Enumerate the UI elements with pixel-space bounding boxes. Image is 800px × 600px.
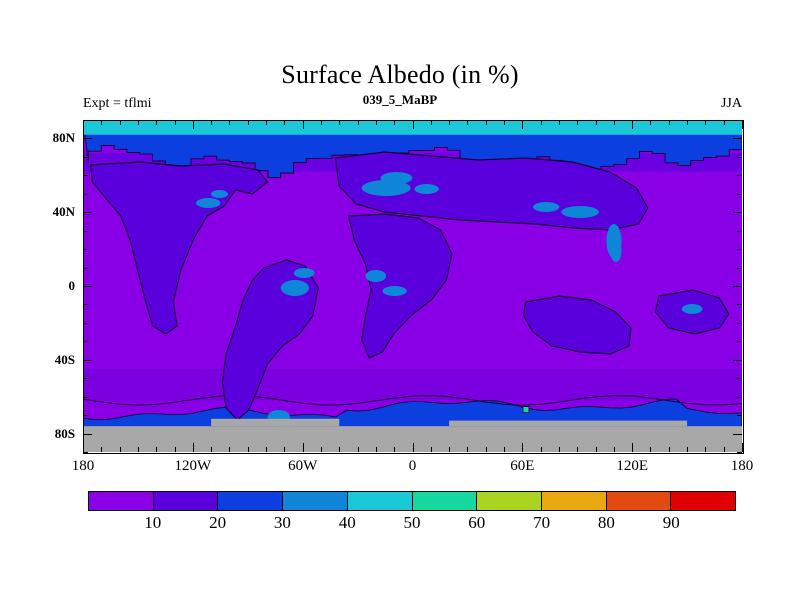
- y-tick-right: [737, 452, 742, 453]
- y-tick-right: [737, 304, 742, 305]
- colorbar-tick-label: 50: [404, 513, 421, 533]
- y-tick-right: [733, 212, 742, 213]
- y-tick: [83, 194, 88, 195]
- y-tick-right: [733, 286, 742, 287]
- x-tick: [284, 447, 285, 452]
- bright-surface-patch: [196, 198, 220, 208]
- bright-patch-group: [380, 172, 412, 184]
- albedo-heatmap: [83, 120, 742, 452]
- x-tick: [358, 447, 359, 452]
- y-tick-right: [737, 194, 742, 195]
- x-tick-top: [742, 120, 743, 129]
- colorbar-tick-label: 80: [598, 513, 615, 533]
- colorbar-swatch[interactable]: [541, 492, 606, 510]
- y-tick-right: [737, 157, 742, 158]
- x-tick-top: [687, 120, 688, 125]
- bright-surface-patch: [414, 184, 438, 194]
- colorbar-swatch[interactable]: [217, 492, 282, 510]
- colorbar-tick-label: 20: [209, 513, 226, 533]
- y-tick-right: [737, 378, 742, 379]
- x-tick-top: [211, 120, 212, 125]
- x-tick-top: [156, 120, 157, 125]
- y-tick: [83, 452, 88, 453]
- figure-canvas: Surface Albedo (in %) 039_5_MaBP Expt = …: [0, 0, 800, 600]
- x-tick-top: [596, 120, 597, 125]
- x-tick-top: [449, 120, 450, 125]
- y-tick-right: [733, 138, 742, 139]
- y-tick: [83, 378, 88, 379]
- x-tick: [266, 447, 267, 452]
- experiment-label: Expt = tflmi: [83, 96, 152, 112]
- x-tick-top: [101, 120, 102, 125]
- x-tick-label: 180: [72, 458, 95, 475]
- x-tick: [596, 447, 597, 452]
- x-tick-top: [138, 120, 139, 125]
- x-tick-top: [120, 120, 121, 125]
- x-tick-top: [266, 120, 267, 125]
- colorbar-swatch[interactable]: [670, 492, 735, 510]
- colorbar-tick-label: 40: [339, 513, 356, 533]
- y-tick: [83, 212, 92, 213]
- x-tick: [467, 447, 468, 452]
- x-tick: [83, 443, 84, 452]
- x-tick-top: [577, 120, 578, 125]
- bright-surface-patch: [561, 206, 599, 218]
- x-tick: [248, 447, 249, 452]
- colorbar-swatch[interactable]: [282, 492, 347, 510]
- y-tick-right: [737, 415, 742, 416]
- x-tick-top: [248, 120, 249, 125]
- x-tick-top: [650, 120, 651, 125]
- bright-patch-group: [682, 304, 703, 314]
- y-tick-right: [737, 397, 742, 398]
- x-tick: [211, 447, 212, 452]
- x-tick-label: 60W: [288, 458, 317, 475]
- y-tick: [83, 360, 92, 361]
- colorbar-swatch[interactable]: [347, 492, 412, 510]
- x-tick: [394, 447, 395, 452]
- bright-patch-group: [561, 206, 599, 218]
- x-tick-top: [522, 120, 523, 129]
- y-tick: [83, 397, 88, 398]
- x-tick-label: 0: [409, 458, 417, 475]
- y-tick-right: [737, 175, 742, 176]
- bright-surface-patch: [682, 304, 703, 314]
- y-tick: [83, 341, 88, 342]
- x-tick: [120, 447, 121, 452]
- y-tick-label: 80S: [15, 426, 75, 442]
- x-tick-top: [413, 120, 414, 129]
- y-tick-right: [737, 231, 742, 232]
- bright-surface-patch: [294, 268, 315, 278]
- x-tick-top: [284, 120, 285, 125]
- bright-surface-patch: [281, 280, 309, 296]
- colorbar-tick-label: 60: [468, 513, 485, 533]
- x-tick: [577, 447, 578, 452]
- y-tick: [83, 120, 88, 121]
- map-plot-area: [83, 120, 742, 452]
- colorbar-tick-label: 30: [274, 513, 291, 533]
- x-tick: [193, 443, 194, 452]
- x-tick: [321, 447, 322, 452]
- x-tick: [101, 447, 102, 452]
- y-tick-label: 40S: [15, 352, 75, 368]
- y-tick-label: 40N: [15, 204, 75, 220]
- bright-patch-group: [294, 268, 315, 278]
- x-tick-label: 60E: [510, 458, 534, 475]
- x-tick: [138, 447, 139, 452]
- bright-patch-group: [211, 190, 228, 198]
- x-tick: [413, 443, 414, 452]
- x-tick-top: [559, 120, 560, 125]
- x-tick: [541, 447, 542, 452]
- colorbar-tick-label: 90: [663, 513, 680, 533]
- y-tick: [83, 415, 88, 416]
- x-tick-top: [193, 120, 194, 129]
- bright-surface-patch: [533, 202, 559, 212]
- page-title: Surface Albedo (in %): [0, 60, 800, 90]
- y-tick: [83, 323, 88, 324]
- season-label: JJA: [721, 96, 742, 112]
- x-tick-top: [614, 120, 615, 125]
- y-tick-right: [737, 323, 742, 324]
- y-tick-right: [733, 360, 742, 361]
- colorbar-swatch[interactable]: [606, 492, 671, 510]
- x-tick: [705, 447, 706, 452]
- x-tick-top: [229, 120, 230, 125]
- y-tick: [83, 304, 88, 305]
- y-tick-right: [737, 249, 742, 250]
- bright-surface-patch: [211, 190, 228, 198]
- bright-surface-patch: [382, 286, 406, 296]
- antarctica-peninsula-missing: [211, 419, 339, 426]
- x-tick: [559, 447, 560, 452]
- x-tick: [431, 447, 432, 452]
- x-tick-top: [632, 120, 633, 129]
- colorbar-swatch[interactable]: [412, 492, 477, 510]
- x-tick: [724, 447, 725, 452]
- x-tick: [175, 447, 176, 452]
- y-tick: [83, 434, 92, 435]
- x-tick-top: [504, 120, 505, 125]
- x-tick: [687, 447, 688, 452]
- bright-patch-group: [365, 270, 386, 282]
- y-tick: [83, 157, 88, 158]
- bright-patch-group: [610, 240, 621, 262]
- x-tick-top: [431, 120, 432, 125]
- y-tick-label: 80N: [15, 130, 75, 146]
- y-tick-right: [737, 120, 742, 121]
- x-tick: [504, 447, 505, 452]
- x-tick: [339, 447, 340, 452]
- x-tick: [742, 443, 743, 452]
- x-tick-top: [358, 120, 359, 125]
- y-tick: [83, 175, 88, 176]
- y-tick: [83, 286, 92, 287]
- x-tick-top: [175, 120, 176, 125]
- colorbar-swatch[interactable]: [89, 492, 153, 510]
- x-tick-label: 120W: [174, 458, 211, 475]
- x-tick: [632, 443, 633, 452]
- antarctica-east-missing: [449, 421, 687, 427]
- bright-surface-patch: [365, 270, 386, 282]
- x-tick-top: [486, 120, 487, 125]
- x-tick-top: [303, 120, 304, 129]
- x-tick-label: 180: [731, 458, 754, 475]
- x-tick-top: [339, 120, 340, 125]
- x-tick: [449, 447, 450, 452]
- bright-surface-patch: [380, 172, 412, 184]
- x-tick: [486, 447, 487, 452]
- bright-surface-patch: [610, 240, 621, 262]
- colorbar-swatch[interactable]: [153, 492, 218, 510]
- x-tick-top: [83, 120, 84, 129]
- y-tick-label: 0: [15, 278, 75, 294]
- x-tick: [303, 443, 304, 452]
- bright-patch-group: [281, 280, 309, 296]
- x-tick-label: 120E: [616, 458, 648, 475]
- y-tick: [83, 138, 92, 139]
- bright-patch-group: [414, 184, 438, 194]
- bright-patch-group: [196, 198, 220, 208]
- x-tick: [650, 447, 651, 452]
- bright-patch-group: [382, 286, 406, 296]
- x-tick: [229, 447, 230, 452]
- x-tick: [156, 447, 157, 452]
- x-tick: [669, 447, 670, 452]
- y-tick: [83, 249, 88, 250]
- bright-patch-group: [533, 202, 559, 212]
- x-tick-top: [541, 120, 542, 125]
- x-tick-top: [467, 120, 468, 125]
- y-tick-right: [737, 268, 742, 269]
- y-tick-right: [733, 434, 742, 435]
- x-tick-top: [321, 120, 322, 125]
- colorbar-swatch[interactable]: [476, 492, 541, 510]
- x-tick: [376, 447, 377, 452]
- y-tick-right: [737, 341, 742, 342]
- y-tick: [83, 268, 88, 269]
- colorbar-tick-label: 10: [144, 513, 161, 533]
- y-tick: [83, 231, 88, 232]
- x-tick: [522, 443, 523, 452]
- antarctic-bright-point: [523, 407, 529, 413]
- x-tick-top: [376, 120, 377, 125]
- x-tick-top: [705, 120, 706, 125]
- colorbar-tick-label: 70: [533, 513, 550, 533]
- colorbar[interactable]: [88, 491, 736, 511]
- x-tick-top: [669, 120, 670, 125]
- x-tick-top: [394, 120, 395, 125]
- x-tick: [614, 447, 615, 452]
- x-tick-top: [724, 120, 725, 125]
